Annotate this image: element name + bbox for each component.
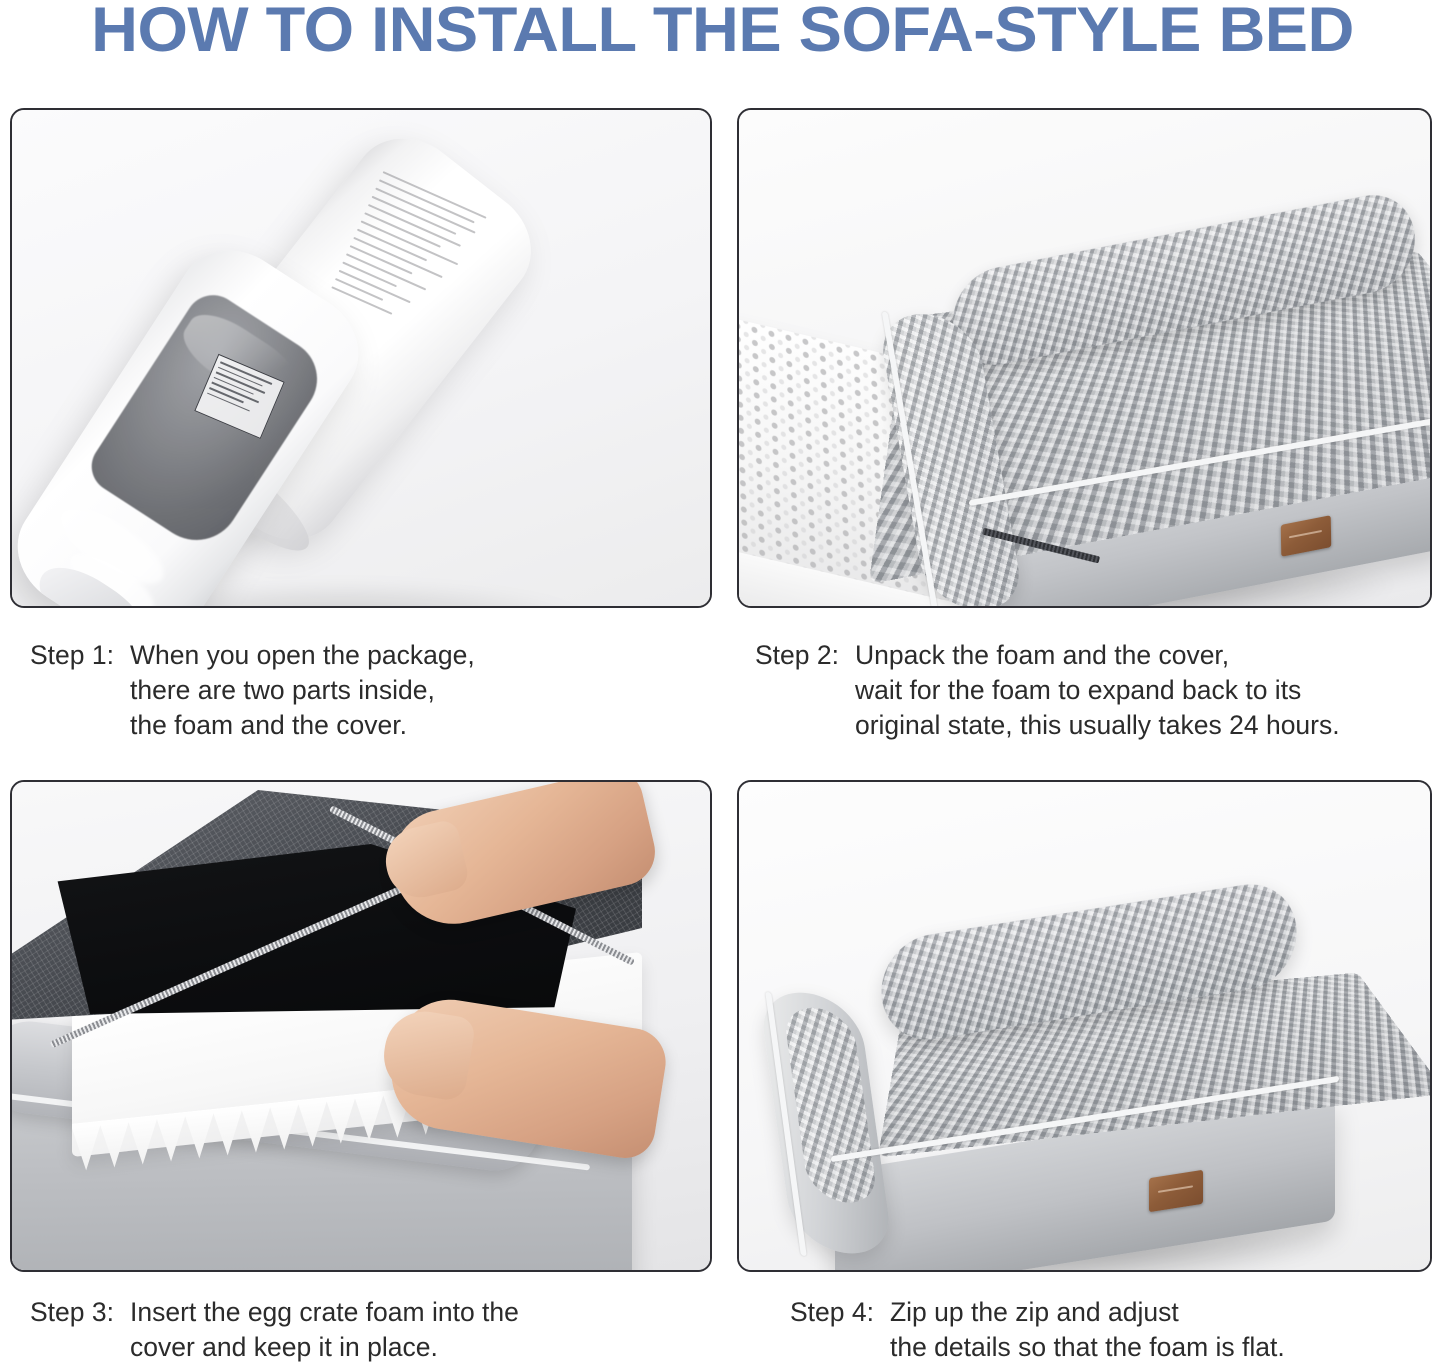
- step-3-label: Step 3:: [30, 1295, 130, 1330]
- step-2-caption: Step 2: Unpack the foam and the cover, w…: [755, 638, 1435, 743]
- step-3-text: Insert the egg crate foam into the cover…: [130, 1295, 680, 1365]
- step-2-photo: [739, 110, 1430, 606]
- step-3-caption: Step 3: Insert the egg crate foam into t…: [30, 1295, 680, 1365]
- infographic-page: HOW TO INSTALL THE SOFA-STYLE BED: [0, 0, 1445, 1370]
- page-title: HOW TO INSTALL THE SOFA-STYLE BED: [0, 0, 1445, 64]
- fur-texture: [782, 1003, 879, 1207]
- step-3-image-panel: [10, 780, 712, 1272]
- step-2-text: Unpack the foam and the cover, wait for …: [855, 638, 1435, 743]
- step-4-image-panel: [737, 780, 1432, 1272]
- step-1-text: When you open the package, there are two…: [130, 638, 670, 743]
- sofa-bed-open: [889, 196, 1430, 596]
- bed-armrest-bolster: [757, 986, 894, 1260]
- step-4-caption: Step 4: Zip up the zip and adjust the de…: [790, 1295, 1435, 1365]
- step-2-label: Step 2:: [755, 638, 855, 673]
- step-1-label: Step 1:: [30, 638, 130, 673]
- step-4-label: Step 4:: [790, 1295, 890, 1330]
- step-2-image-panel: [737, 108, 1432, 608]
- step-1-caption: Step 1: When you open the package, there…: [30, 638, 670, 743]
- step-3-photo: [12, 782, 710, 1270]
- step-4-photo: [739, 782, 1430, 1270]
- step-1-image-panel: [10, 108, 712, 608]
- step-4-text: Zip up the zip and adjust the details so…: [890, 1295, 1435, 1365]
- sofa-bed-assembled: [779, 900, 1389, 1240]
- step-1-photo: [12, 110, 710, 606]
